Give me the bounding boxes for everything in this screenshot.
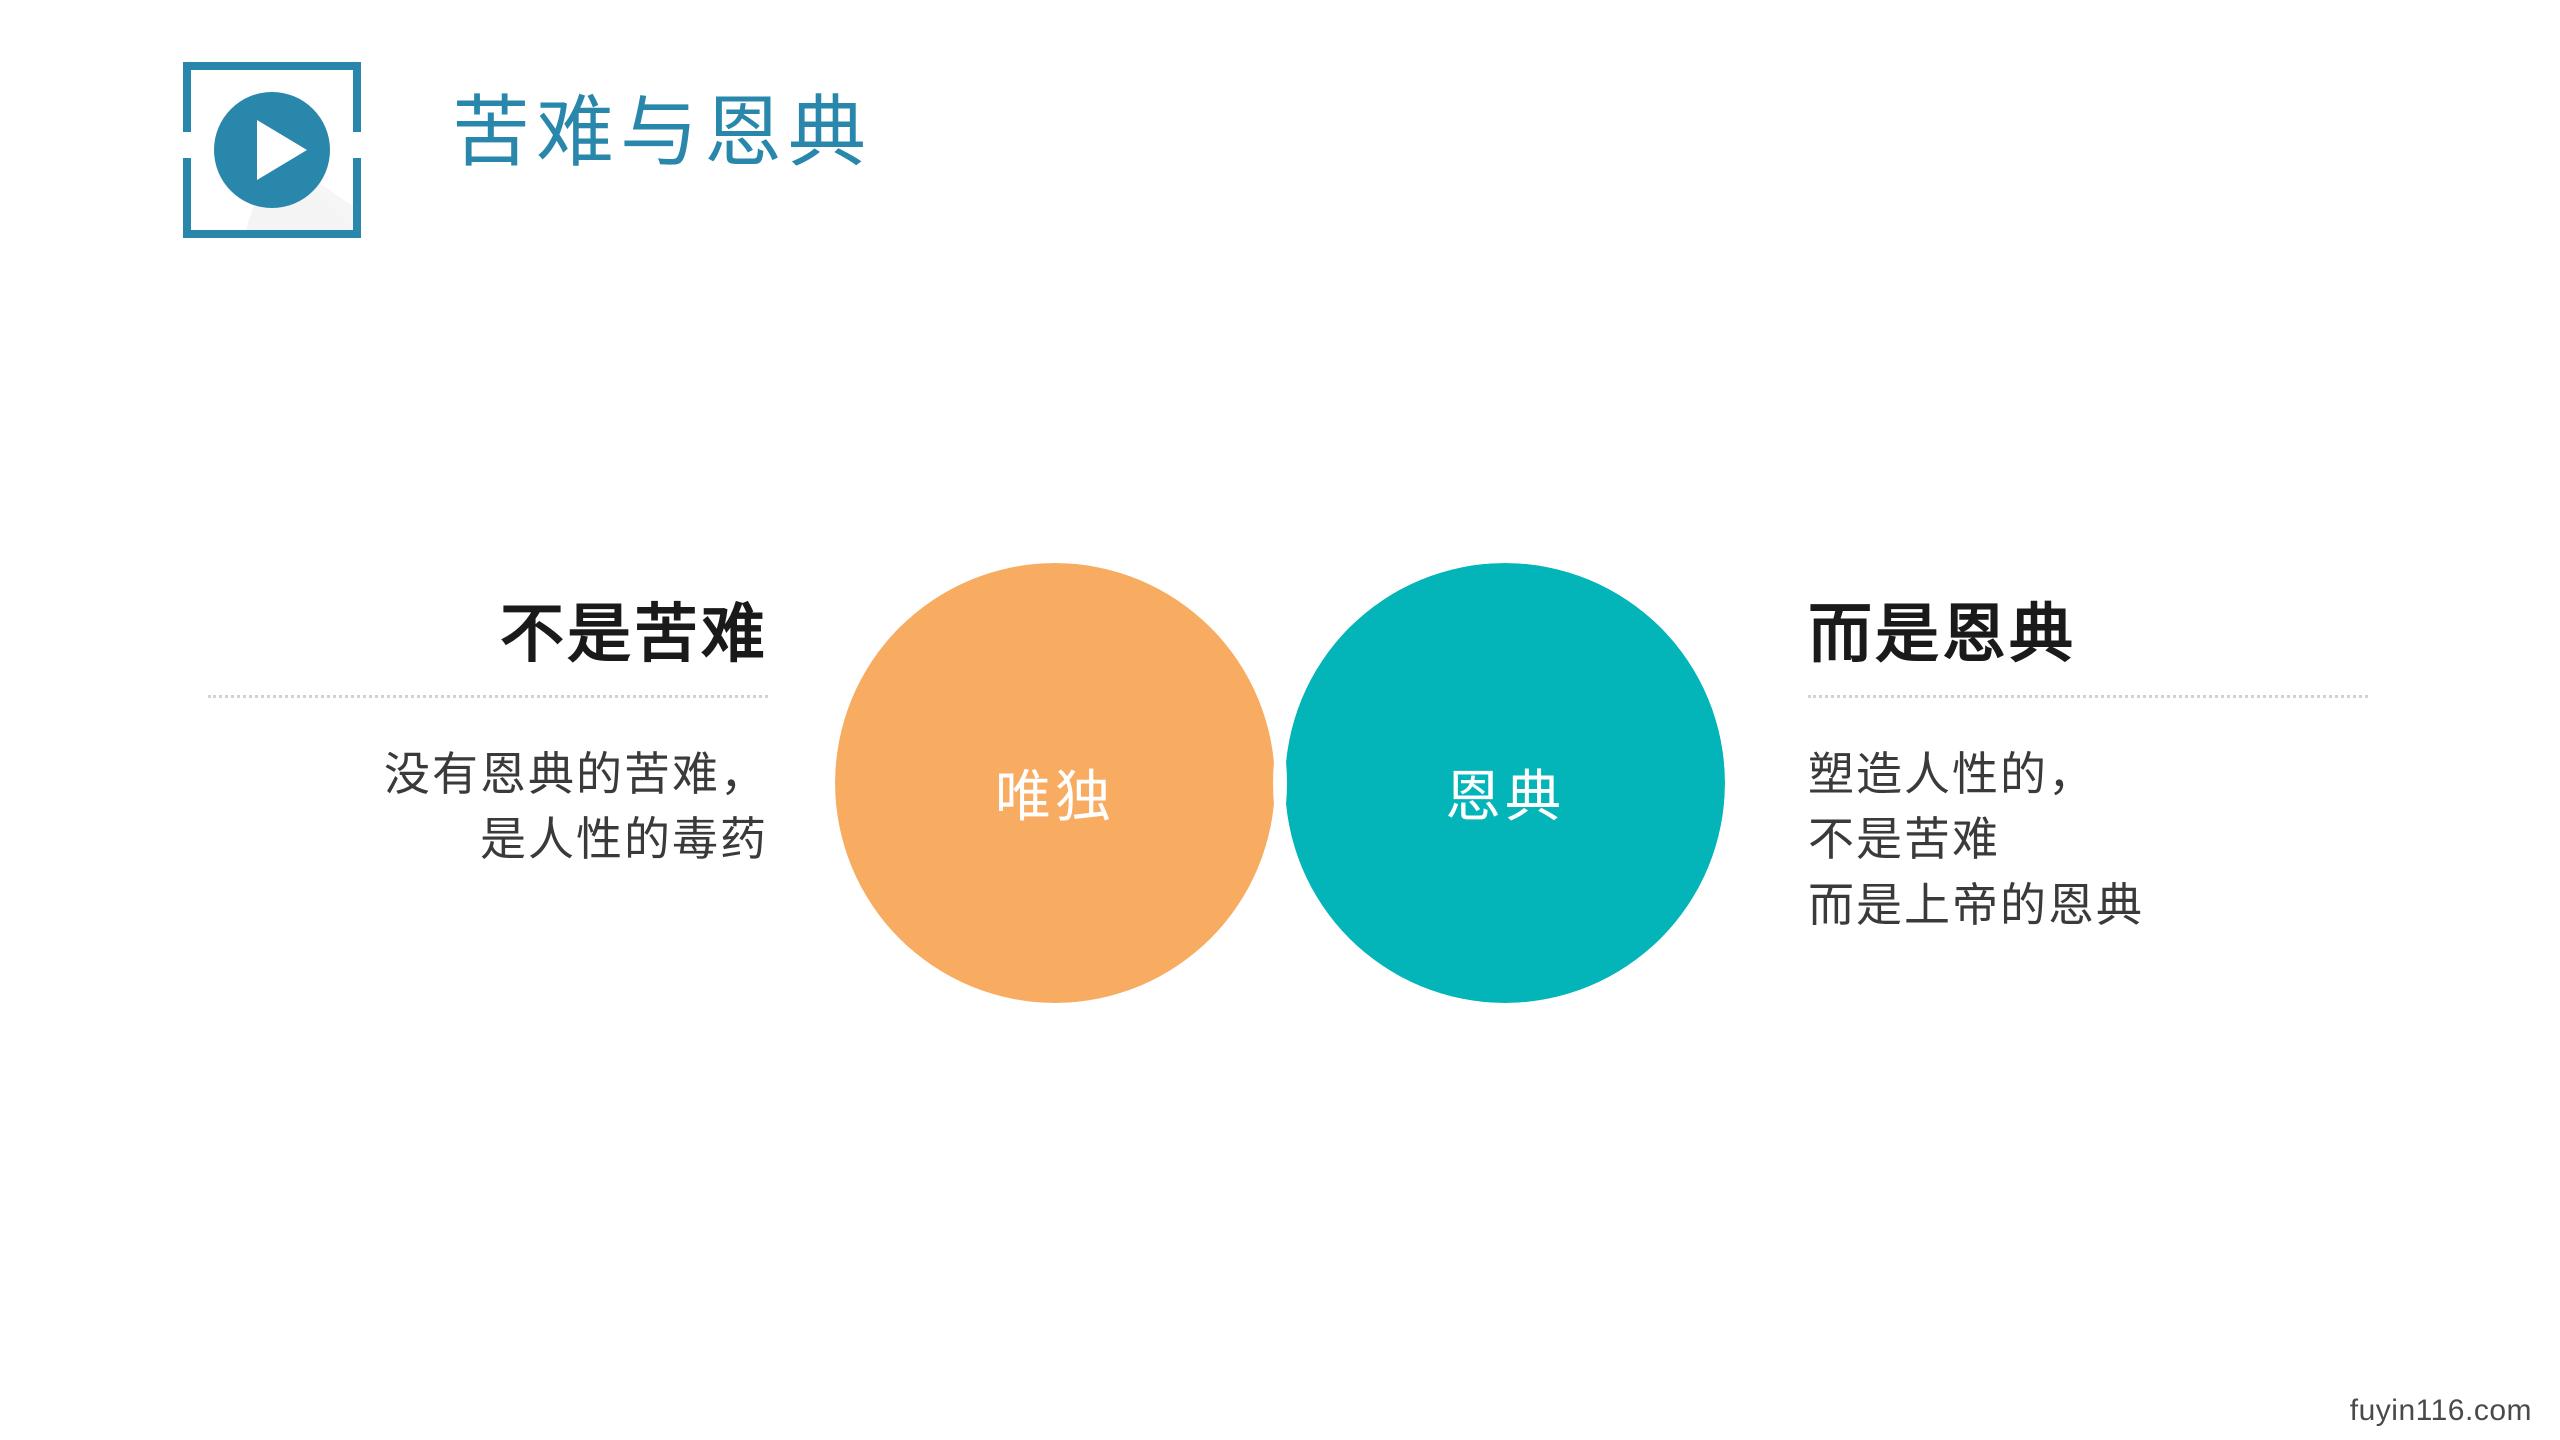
- left-column-body: 没有恩典的苦难， 是人性的毒药: [208, 742, 768, 873]
- right-column-divider: [1808, 695, 2368, 698]
- site-watermark: fuyin116.com: [2350, 1394, 2532, 1428]
- left-column-heading: 不是苦难: [208, 600, 768, 669]
- left-column-body-line: 是人性的毒药: [208, 807, 768, 872]
- right-column: 而是恩典 塑造人性的， 不是苦难 而是上帝的恩典: [1808, 600, 2368, 938]
- right-column-body: 塑造人性的， 不是苦难 而是上帝的恩典: [1808, 742, 2368, 938]
- right-column-body-line: 不是苦难: [1808, 807, 2368, 872]
- right-column-body-line: 而是上帝的恩典: [1808, 873, 2368, 938]
- venn-diagram: 唯独 恩典: [830, 538, 1730, 1028]
- right-column-heading: 而是恩典: [1808, 600, 2368, 669]
- venn-label-right: 恩典: [1445, 767, 1565, 829]
- left-column-body-line: 没有恩典的苦难，: [208, 742, 768, 807]
- venn-label-left: 唯独: [995, 767, 1115, 829]
- slide-canvas: 苦难与恩典 不是苦难 没有恩典的苦难， 是人性的毒药: [0, 0, 2560, 1440]
- slide-header: 苦难与恩典: [0, 0, 2560, 300]
- page-title: 苦难与恩典: [452, 84, 872, 182]
- left-column: 不是苦难 没有恩典的苦难， 是人性的毒药: [208, 600, 768, 873]
- play-button-in-frame-icon: [183, 62, 361, 238]
- right-column-body-line: 塑造人性的，: [1808, 742, 2368, 807]
- left-column-divider: [208, 695, 768, 698]
